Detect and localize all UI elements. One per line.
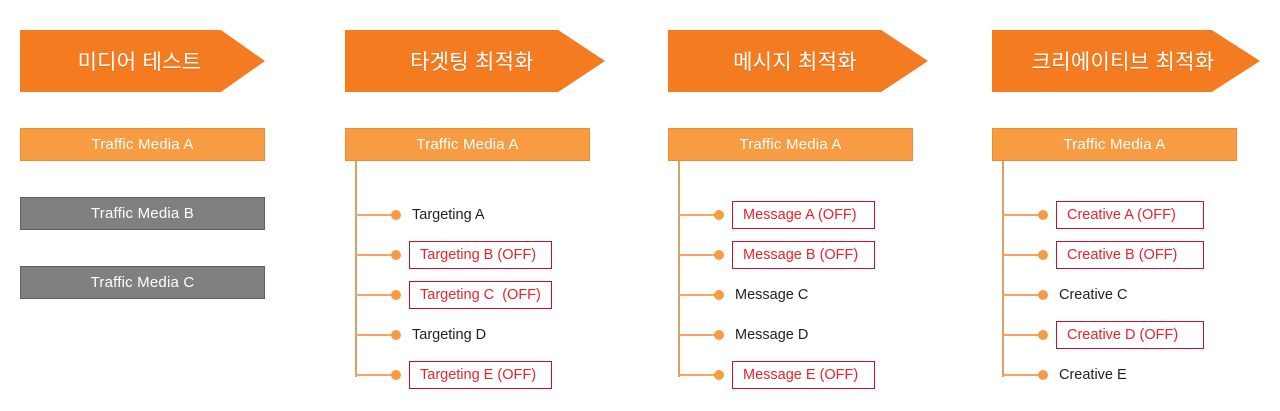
leaf-item-creative-e[interactable]: Creative E (1056, 361, 1127, 389)
tree-trunk (1002, 161, 1004, 377)
leaf-item-message-c[interactable]: Message C (732, 281, 808, 309)
leaf-item-creative-a[interactable]: Creative A (OFF) (1056, 201, 1204, 229)
tree-branch (355, 374, 395, 376)
leaf-item-message-a[interactable]: Message A (OFF) (732, 201, 875, 229)
stage-column-creative: 크리에이티브 최적화 Traffic Media A Creative A (O… (970, 0, 1280, 411)
leaf-item-message-e[interactable]: Message E (OFF) (732, 361, 875, 389)
tree-node-dot (1038, 290, 1048, 300)
media-bar-traffic-media-b[interactable]: Traffic Media B (20, 197, 265, 230)
tree-node-dot (1038, 330, 1048, 340)
tree-node-dot (391, 370, 401, 380)
leaf-item-message-b[interactable]: Message B (OFF) (732, 241, 875, 269)
stage-header-arrow-1: 미디어 테스트 (20, 30, 265, 92)
tree-branch (678, 374, 718, 376)
tree-node-dot (714, 250, 724, 260)
leaf-item-creative-d[interactable]: Creative D (OFF) (1056, 321, 1204, 349)
tree-branch (355, 254, 395, 256)
stage-column-message: 메시지 최적화 Traffic Media A Message A (OFF) … (648, 0, 968, 411)
funnel-diagram: 미디어 테스트 Traffic Media A Traffic Media B … (0, 0, 1280, 411)
leaf-item-creative-b[interactable]: Creative B (OFF) (1056, 241, 1204, 269)
tree-branch (678, 254, 718, 256)
tree-branch (1002, 374, 1042, 376)
stage-column-media-test: 미디어 테스트 Traffic Media A Traffic Media B … (0, 0, 320, 411)
tree-node-dot (1038, 370, 1048, 380)
leaf-item-message-d[interactable]: Message D (732, 321, 808, 349)
tree-node-dot (1038, 210, 1048, 220)
tree-branch (1002, 254, 1042, 256)
media-bar-traffic-media-a[interactable]: Traffic Media A (20, 128, 265, 161)
tree-branch (355, 334, 395, 336)
tree-branch (1002, 294, 1042, 296)
tree-trunk (678, 161, 680, 377)
stage-column-targeting: 타겟팅 최적화 Traffic Media A Targeting A Targ… (325, 0, 645, 411)
tree-branch (678, 214, 718, 216)
tree-branch (355, 214, 395, 216)
leaf-item-targeting-e[interactable]: Targeting E (OFF) (409, 361, 552, 389)
stage-header-arrow-2: 타겟팅 최적화 (345, 30, 605, 92)
tree-node-dot (391, 250, 401, 260)
tree-node-dot (391, 290, 401, 300)
tree-trunk (355, 161, 357, 377)
leaf-item-targeting-c[interactable]: Targeting C (OFF) (409, 281, 552, 309)
tree-node-dot (714, 290, 724, 300)
media-bar-traffic-media-a[interactable]: Traffic Media A (345, 128, 590, 161)
stage-header-arrow-4: 크리에이티브 최적화 (992, 30, 1260, 92)
leaf-item-creative-c[interactable]: Creative C (1056, 281, 1128, 309)
media-bar-traffic-media-a[interactable]: Traffic Media A (668, 128, 913, 161)
tree-node-dot (714, 370, 724, 380)
tree-node-dot (714, 330, 724, 340)
leaf-item-targeting-d[interactable]: Targeting D (409, 321, 486, 349)
media-bar-traffic-media-a[interactable]: Traffic Media A (992, 128, 1237, 161)
leaf-item-targeting-a[interactable]: Targeting A (409, 201, 485, 229)
tree-branch (678, 334, 718, 336)
tree-node-dot (391, 210, 401, 220)
tree-node-dot (714, 210, 724, 220)
tree-branch (355, 294, 395, 296)
stage-header-arrow-3: 메시지 최적화 (668, 30, 928, 92)
tree-branch (1002, 214, 1042, 216)
tree-branch (678, 294, 718, 296)
tree-node-dot (391, 330, 401, 340)
tree-node-dot (1038, 250, 1048, 260)
media-bar-traffic-media-c[interactable]: Traffic Media C (20, 266, 265, 299)
tree-branch (1002, 334, 1042, 336)
leaf-item-targeting-b[interactable]: Targeting B (OFF) (409, 241, 552, 269)
